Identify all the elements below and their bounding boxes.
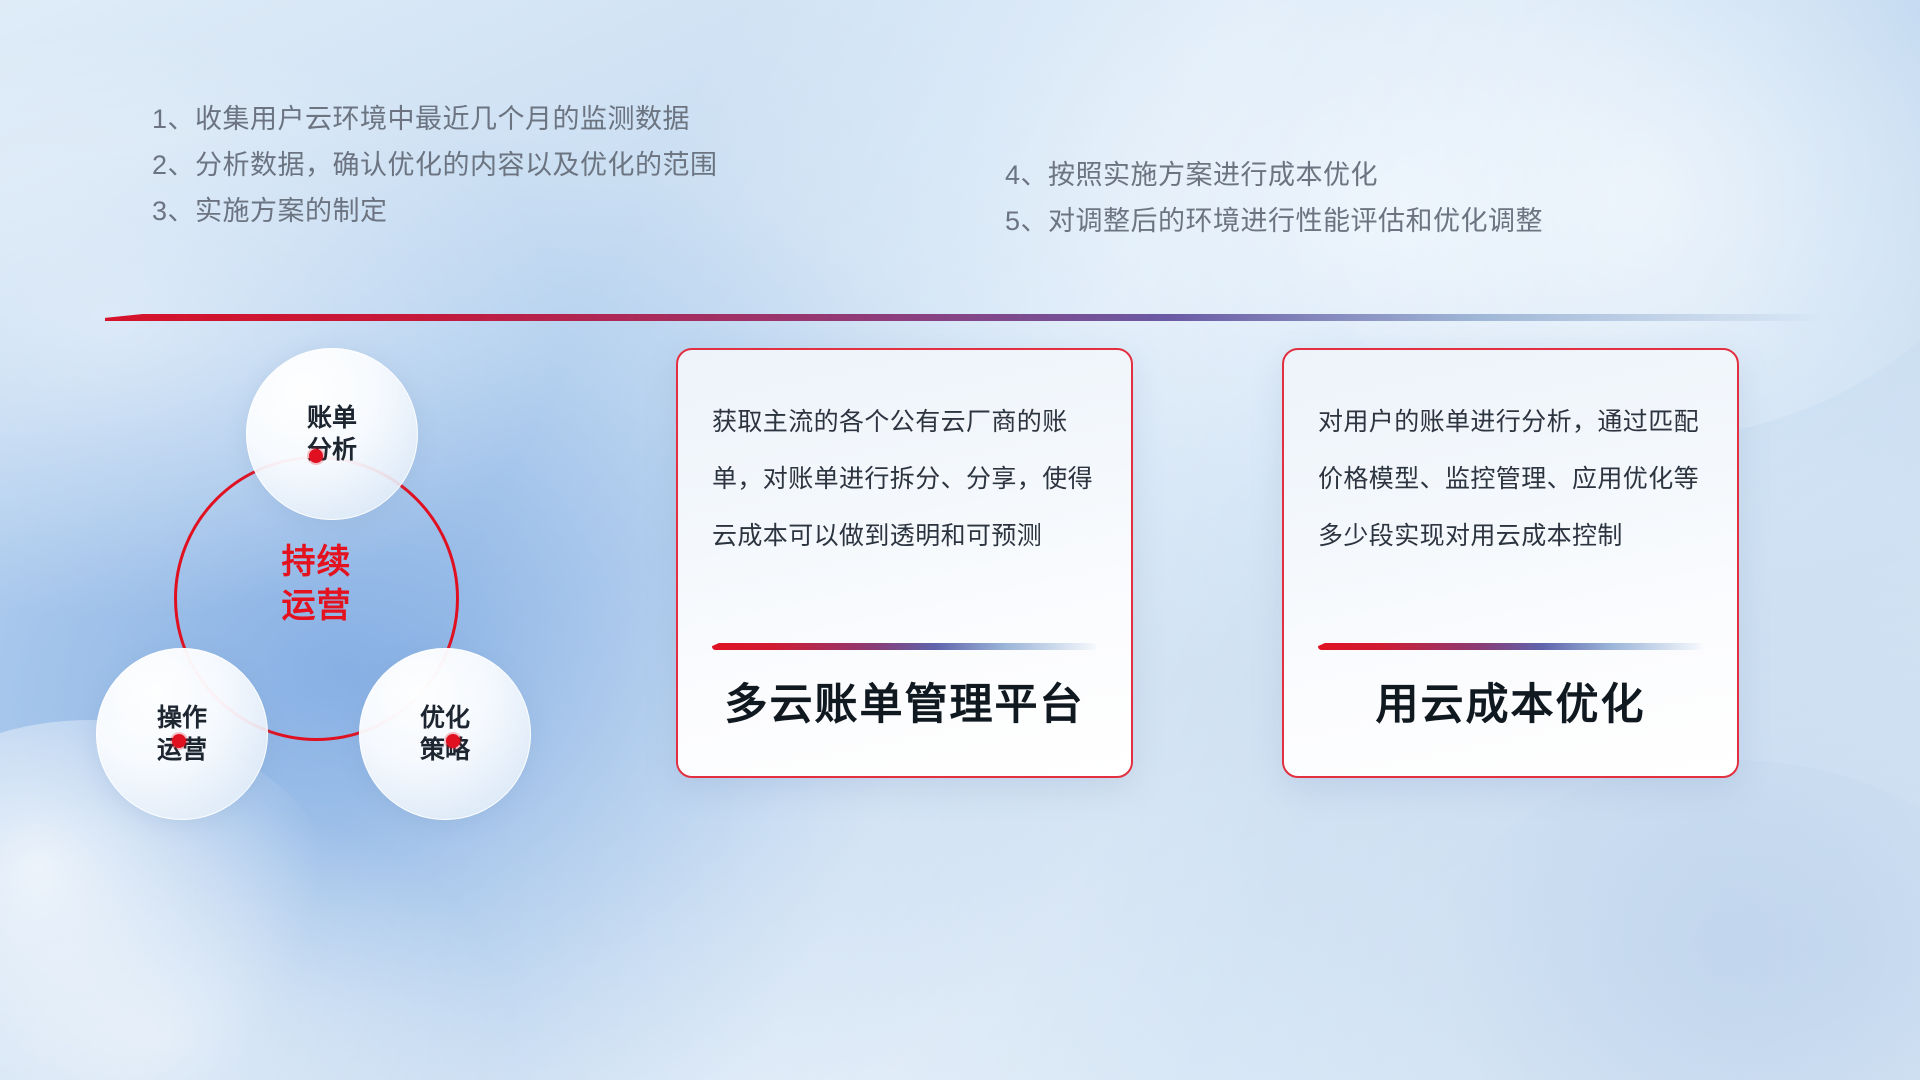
venn-node-dot-top <box>309 449 323 463</box>
venn-diagram: 账单 分析 操作 运营 优化 策略 持续 运营 <box>96 348 616 948</box>
venn-bubble-label-line1: 账单 <box>307 404 357 432</box>
feature-card-divider <box>1318 643 1703 650</box>
feature-card-multi-cloud-billing[interactable]: 获取主流的各个公有云厂商的账单，对账单进行拆分、分享，使得云成本可以做到透明和可… <box>676 348 1133 778</box>
header-divider <box>105 314 1820 321</box>
feature-card-body: 获取主流的各个公有云厂商的账单，对账单进行拆分、分享，使得云成本可以做到透明和可… <box>712 394 1097 637</box>
venn-center-label-line2: 运营 <box>282 587 352 625</box>
venn-node-dot-right <box>446 734 460 748</box>
feature-card-divider <box>712 643 1097 650</box>
feature-card-title: 用云成本优化 <box>1318 670 1703 746</box>
venn-bubble-label: 优化 策略 <box>420 702 470 766</box>
venn-bubble-label-line1: 操作 <box>157 704 207 732</box>
venn-center-label: 持续 运营 <box>174 540 459 628</box>
feature-card-cloud-cost-optimization[interactable]: 对用户的账单进行分析，通过匹配价格模型、监控管理、应用优化等多少段实现对用云成本… <box>1282 348 1739 778</box>
venn-bubble-billing-analysis[interactable]: 账单 分析 <box>246 348 418 520</box>
venn-bubble-optimization-strategy[interactable]: 优化 策略 <box>359 648 531 820</box>
step-item: 3、实施方案的制定 <box>152 188 718 234</box>
steps-list-right: 4、按照实施方案进行成本优化 5、对调整后的环境进行性能评估和优化调整 <box>1005 152 1543 244</box>
steps-list-left: 1、收集用户云环境中最近几个月的监测数据 2、分析数据，确认优化的内容以及优化的… <box>152 96 718 234</box>
feature-card-title: 多云账单管理平台 <box>712 670 1097 746</box>
step-item: 4、按照实施方案进行成本优化 <box>1005 152 1543 198</box>
background-glow-bottom-right <box>1420 760 1920 1080</box>
venn-bubble-label-line1: 优化 <box>420 704 470 732</box>
venn-bubble-label-line2: 策略 <box>420 736 470 764</box>
venn-node-dot-left <box>172 734 186 748</box>
step-item: 5、对调整后的环境进行性能评估和优化调整 <box>1005 198 1543 244</box>
feature-card-body: 对用户的账单进行分析，通过匹配价格模型、监控管理、应用优化等多少段实现对用云成本… <box>1318 394 1703 637</box>
venn-center-label-line1: 持续 <box>282 543 352 581</box>
slide-canvas: 1、收集用户云环境中最近几个月的监测数据 2、分析数据，确认优化的内容以及优化的… <box>0 0 1920 1080</box>
step-item: 1、收集用户云环境中最近几个月的监测数据 <box>152 96 718 142</box>
step-item: 2、分析数据，确认优化的内容以及优化的范围 <box>152 142 718 188</box>
